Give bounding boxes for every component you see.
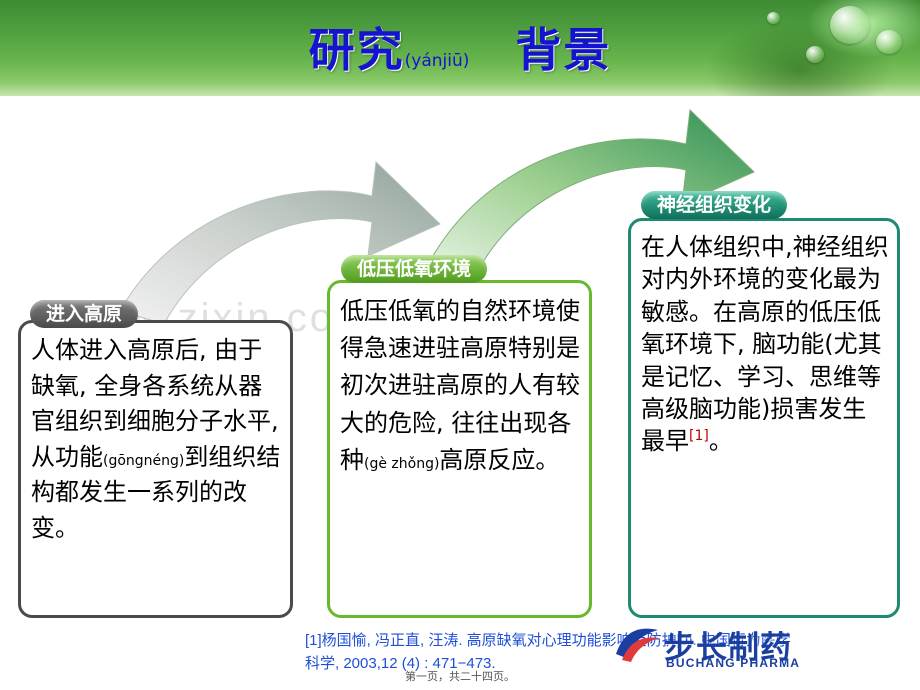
box3-text-part2: 。 [709, 427, 733, 455]
content-box-2-tag: 低压低氧环境 [341, 255, 487, 283]
box2-pinyin: (gè zhǒng) [364, 456, 439, 472]
slide-title-right: 背景 [515, 23, 611, 77]
box3-reference-mark: [1] [689, 428, 709, 444]
slide-title-pinyin: (yánjiū) [405, 51, 470, 71]
box2-text-part2: 高原反应。 [439, 446, 559, 474]
content-box-2-text: 低压低氧的自然环境使得急速进驻高原特别是初次进驻高原的人有较大的危险, 往往出现… [330, 283, 589, 485]
content-box-1-tag: 进入高原 [30, 300, 138, 328]
content-box-2: 低压低氧的自然环境使得急速进驻高原特别是初次进驻高原的人有较大的危险, 往往出现… [327, 280, 592, 618]
content-box-1: 人体进入高原后, 由于缺氧, 全身各系统从器官组织到细胞分子水平, 从功能(gō… [18, 320, 293, 618]
company-logo: 步长制药 BUCHANG PHARMA [614, 622, 854, 674]
slide-title: 研究(yánjiū)背景 [0, 14, 920, 80]
content-box-1-text: 人体进入高原后, 由于缺氧, 全身各系统从器官组织到细胞分子水平, 从功能(gō… [21, 323, 290, 552]
box3-text-part1: 在人体组织中,神经组织对内外环境的变化最为敏感。在高原的低压低氧环境下, 脑功能… [641, 233, 889, 455]
box1-pinyin: (gōngnéng) [103, 453, 184, 469]
page-number: 第一页，共二十四页。 [0, 668, 920, 684]
logo-mark-icon [614, 624, 660, 664]
content-box-3-tag: 神经组织变化 [641, 191, 787, 219]
slide-title-left: 研究 [309, 23, 405, 77]
content-box-3: 在人体组织中,神经组织对内外环境的变化最为敏感。在高原的低压低氧环境下, 脑功能… [628, 218, 900, 618]
content-box-3-text: 在人体组织中,神经组织对内外环境的变化最为敏感。在高原的低压低氧环境下, 脑功能… [631, 221, 897, 464]
